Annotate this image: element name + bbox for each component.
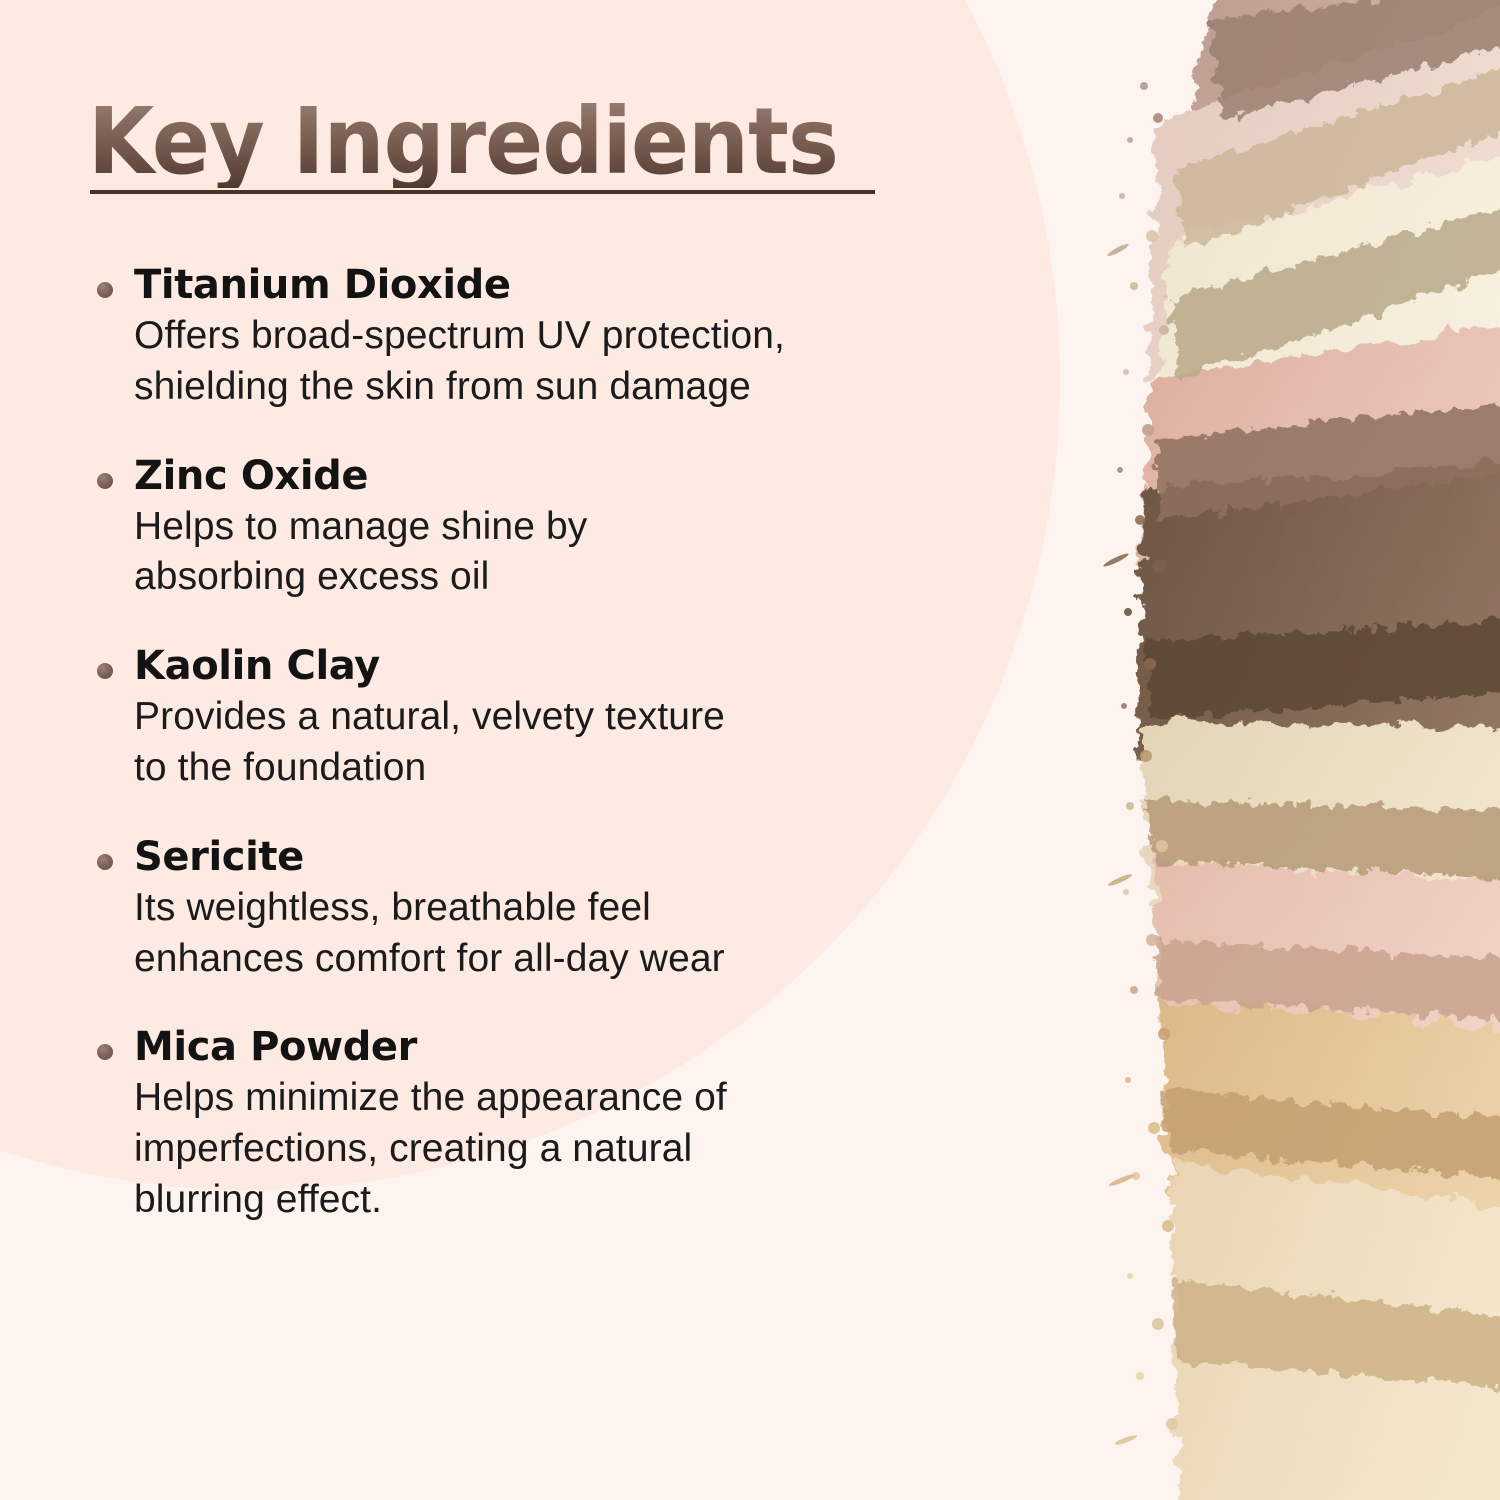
- list-item: Titanium Dioxide Offers broad-spectrum U…: [88, 262, 988, 413]
- ingredient-description: Helps minimize the appearance of imperfe…: [134, 1073, 988, 1225]
- bullet-icon: [97, 663, 113, 679]
- ingredient-description: Offers broad-spectrum UV protection, shi…: [134, 311, 988, 412]
- ingredient-description: Provides a natural, velvety texture to t…: [134, 692, 988, 793]
- list-item: Kaolin Clay Provides a natural, velvety …: [88, 643, 988, 794]
- bullet-icon: [97, 854, 113, 870]
- ingredient-list: Titanium Dioxide Offers broad-spectrum U…: [88, 262, 988, 1226]
- page-title: Key Ingredients: [88, 96, 838, 188]
- title-underline: [90, 190, 875, 194]
- bullet-icon: [97, 1044, 113, 1060]
- bullet-icon: [97, 473, 113, 489]
- ingredient-name: Sericite: [134, 834, 988, 881]
- ingredient-name: Kaolin Clay: [134, 643, 988, 690]
- ingredient-name: Mica Powder: [134, 1024, 988, 1071]
- list-item: Zinc Oxide Helps to manage shine by abso…: [88, 453, 988, 604]
- bullet-icon: [97, 282, 113, 298]
- content-column: Key Ingredients Titanium Dioxide Offers …: [0, 0, 1060, 1500]
- powder-illustration: [1100, 0, 1500, 1500]
- ingredient-name: Zinc Oxide: [134, 453, 988, 500]
- ingredient-description: Helps to manage shine by absorbing exces…: [134, 502, 988, 603]
- ingredient-name: Titanium Dioxide: [134, 262, 988, 309]
- powder-swatch-image: [1100, 0, 1500, 1500]
- list-item: Sericite Its weightless, breathable feel…: [88, 834, 988, 985]
- page-title-wrapper: Key Ingredients: [88, 96, 894, 188]
- product-infographic: Key Ingredients Titanium Dioxide Offers …: [0, 0, 1500, 1500]
- ingredient-description: Its weightless, breathable feel enhances…: [134, 883, 988, 984]
- list-item: Mica Powder Helps minimize the appearanc…: [88, 1024, 988, 1225]
